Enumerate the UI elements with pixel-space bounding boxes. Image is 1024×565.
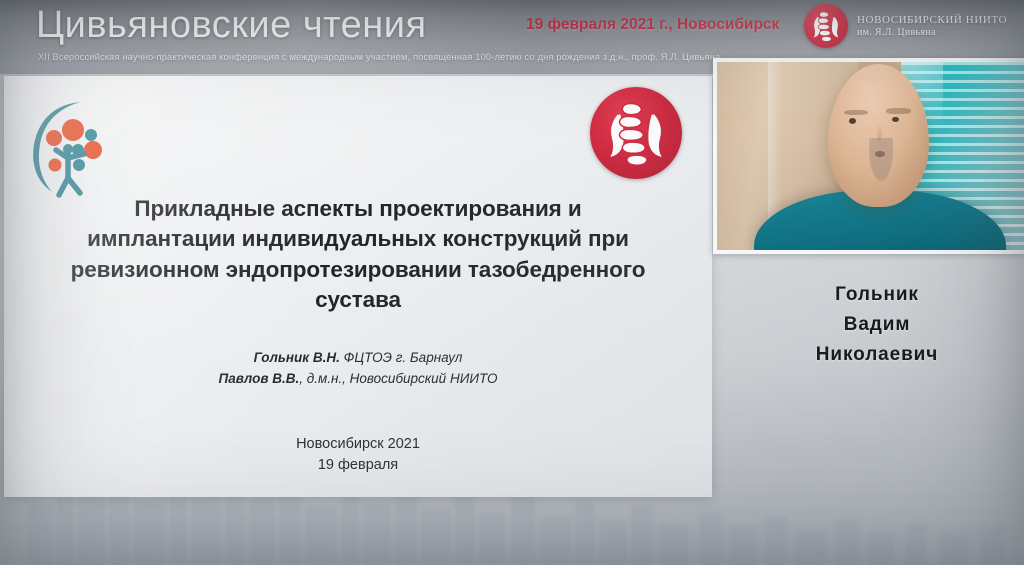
spine-emblem-icon <box>804 4 848 48</box>
institute-logo: НОВОСИБИРСКИЙ НИИТО им. Я.Л. Цивьяна <box>804 2 1018 50</box>
video-participant <box>717 62 1024 250</box>
institute-logo-text: НОВОСИБИРСКИЙ НИИТО им. Я.Л. Цивьяна <box>857 14 1007 38</box>
slide-authors: Гольник В.Н. ФЦТОЭ г. Барнаул Павлов В.В… <box>60 348 656 390</box>
author-affiliation: , д.м.н., Новосибирский НИИТО <box>299 371 497 386</box>
author-line: Павлов В.В., д.м.н., Новосибирский НИИТО <box>60 369 656 390</box>
screen-capture: Цивьяновские чтения XII Всероссийская на… <box>0 0 1024 565</box>
conference-date-location: 19 февраля 2021 г., Новосибирск <box>526 16 779 34</box>
presentation-slide: Прикладные аспекты проектирования и импл… <box>4 76 712 497</box>
slide-title: Прикладные аспекты проектирования и импл… <box>60 194 656 316</box>
institute-name-line2: им. Я.Л. Цивьяна <box>857 27 1007 38</box>
speaker-patronymic: Николаевич <box>742 340 1012 370</box>
author-affiliation: ФЦТОЭ г. Барнаул <box>340 350 463 365</box>
video-feed-tile[interactable] <box>713 58 1024 254</box>
institute-name-line1: НОВОСИБИРСКИЙ НИИТО <box>857 14 1007 26</box>
conference-title: Цивьяновские чтения <box>36 4 427 47</box>
speaker-surname: Гольник <box>742 280 1012 310</box>
video-feed[interactable] <box>717 62 1024 250</box>
author-name: Гольник В.Н. <box>254 350 340 365</box>
author-name: Павлов В.В. <box>219 371 300 386</box>
slide-place-date: Новосибирск 2021 19 февраля <box>60 434 656 476</box>
tree-person-logo-icon <box>18 92 118 200</box>
slide-place: Новосибирск 2021 <box>60 434 656 455</box>
conference-subtitle: XII Всероссийская научно-практическая ко… <box>38 52 738 62</box>
speaker-name-caption: Гольник Вадим Николаевич <box>742 280 1012 370</box>
speaker-firstname: Вадим <box>742 310 1012 340</box>
spine-emblem-icon <box>590 87 682 179</box>
participant-head <box>828 64 929 207</box>
author-line: Гольник В.Н. ФЦТОЭ г. Барнаул <box>60 348 656 369</box>
slide-date: 19 февраля <box>60 455 656 476</box>
